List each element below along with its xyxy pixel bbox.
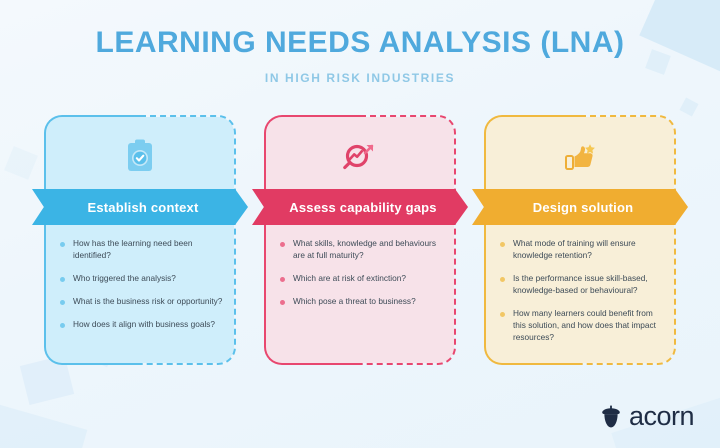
bullet-dot-icon (60, 242, 65, 247)
bullet-dot-icon (60, 300, 65, 305)
columns-container: Establish context How has the learning n… (44, 115, 676, 365)
bullet-text: Who triggered the analysis? (73, 272, 176, 284)
bullet-dot-icon (60, 323, 65, 328)
banner-assess-capability-gaps[interactable]: Assess capability gaps (252, 189, 468, 225)
list-item: How has the learning need been identifie… (60, 237, 226, 261)
bullet-text: Which are at risk of extinction? (293, 272, 406, 284)
bullet-dot-icon (280, 242, 285, 247)
bullet-text: What skills, knowledge and behaviours ar… (293, 237, 446, 261)
list-item: Which pose a threat to business? (280, 295, 446, 307)
bullet-text: Is the performance issue skill-based, kn… (513, 272, 666, 296)
list-item: What mode of training will ensure knowle… (500, 237, 666, 261)
magnifier-trend-arrow-icon (264, 127, 456, 185)
bullet-list: How has the learning need been identifie… (60, 237, 226, 341)
infographic-canvas: LEARNING NEEDS ANALYSIS (LNA) IN HIGH RI… (0, 0, 720, 448)
header: LEARNING NEEDS ANALYSIS (LNA) IN HIGH RI… (0, 26, 720, 85)
banner-label: Assess capability gaps (283, 200, 436, 215)
bullet-dot-icon (500, 312, 505, 317)
acorn-logo: acorn (600, 403, 694, 430)
banner-design-solution[interactable]: Design solution (472, 189, 688, 225)
bullet-dot-icon (280, 277, 285, 282)
list-item: How many learners could benefit from thi… (500, 307, 666, 343)
bullet-text: How many learners could benefit from thi… (513, 307, 666, 343)
bullet-text: What mode of training will ensure knowle… (513, 237, 666, 261)
list-item: What skills, knowledge and behaviours ar… (280, 237, 446, 261)
banner-label: Design solution (527, 200, 634, 215)
list-item: Is the performance issue skill-based, kn… (500, 272, 666, 296)
bullet-text: Which pose a threat to business? (293, 295, 416, 307)
acorn-icon (600, 405, 629, 429)
bullet-text: How does it align with business goals? (73, 318, 215, 330)
list-item: What is the business risk or opportunity… (60, 295, 226, 307)
bullet-dot-icon (500, 277, 505, 282)
banner-establish-context[interactable]: Establish context (32, 189, 248, 225)
bullet-list: What mode of training will ensure knowle… (500, 237, 666, 354)
column-establish-context: Establish context How has the learning n… (44, 115, 236, 365)
thumbs-up-star-icon (484, 127, 676, 185)
column-assess-capability-gaps: Assess capability gaps What skills, know… (264, 115, 456, 365)
page-subtitle: IN HIGH RISK INDUSTRIES (0, 71, 720, 85)
banner-label: Establish context (81, 200, 198, 215)
list-item: Which are at risk of extinction? (280, 272, 446, 284)
bullet-dot-icon (280, 300, 285, 305)
page-title: LEARNING NEEDS ANALYSIS (LNA) (0, 26, 720, 59)
bullet-dot-icon (60, 277, 65, 282)
column-design-solution: Design solution What mode of training wi… (484, 115, 676, 365)
bullet-dot-icon (500, 242, 505, 247)
decorative-square (4, 146, 38, 180)
decorative-square (680, 98, 699, 117)
clipboard-check-icon (44, 127, 236, 185)
list-item: How does it align with business goals? (60, 318, 226, 330)
bullet-text: How has the learning need been identifie… (73, 237, 226, 261)
list-item: Who triggered the analysis? (60, 272, 226, 284)
logo-text: acorn (629, 403, 694, 430)
decorative-square (0, 397, 87, 448)
bullet-list: What skills, knowledge and behaviours ar… (280, 237, 446, 318)
bullet-text: What is the business risk or opportunity… (73, 295, 222, 307)
